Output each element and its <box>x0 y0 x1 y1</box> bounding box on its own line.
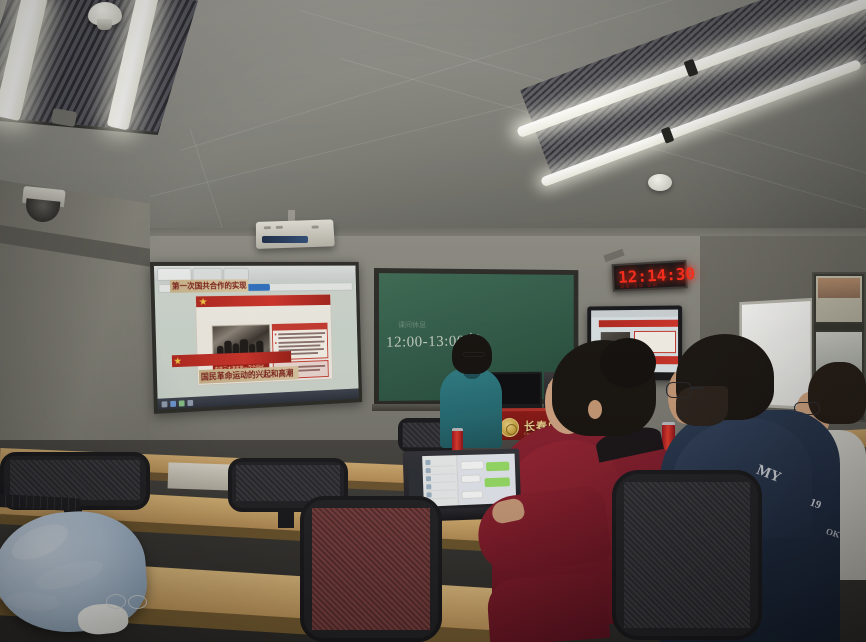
teacher-torso <box>440 368 502 448</box>
chair-front-right[interactable] <box>612 470 762 642</box>
building-outside <box>818 278 860 298</box>
chalkboard-faint-note: 课间休息 <box>398 320 426 330</box>
slide-body-heading <box>273 324 327 331</box>
glasses-bridge <box>690 387 704 389</box>
projector-lens <box>262 236 308 243</box>
student-navy-shirt-glasses-icon <box>666 382 692 398</box>
teacher-glasses-icon <box>463 352 485 357</box>
projected-browser: 中共三大决定第一次全国代表大会与合作共产党员以个人身份加入 第一次国共合作的实现… <box>154 266 359 410</box>
slide-title: 第一次国共合作的实现 <box>172 280 247 291</box>
soda-can-left[interactable] <box>452 430 463 452</box>
window-mullion <box>814 324 864 330</box>
tv-browser-chrome <box>591 310 678 318</box>
lens-right <box>128 595 147 609</box>
chair-front-center[interactable] <box>300 496 442 642</box>
university-seal-icon <box>500 418 519 437</box>
slide-top-band <box>196 295 330 308</box>
smoke-detector-icon <box>88 2 122 26</box>
camera-lens <box>24 198 60 223</box>
classroom-photo: 中共三大决定第一次全国代表大会与合作共产党员以个人身份加入 第一次国共合作的实现… <box>0 0 866 642</box>
lens-left <box>106 594 126 609</box>
woman-in-red-ear <box>588 400 602 419</box>
woman-in-red-hair-bun <box>600 338 656 388</box>
projection-screen: 中共三大决定第一次全国代表大会与合作共产党员以个人身份加入 第一次国共合作的实现… <box>150 262 362 414</box>
eyeglasses-icon <box>106 594 148 610</box>
smoke-detector-icon-2 <box>648 174 672 191</box>
woman-in-red-lower-arm <box>486 572 610 642</box>
student-white-shirt-hair <box>808 362 866 424</box>
dome-security-camera-icon <box>20 186 65 224</box>
tv-slide-top-band <box>599 320 678 327</box>
ceiling-projector <box>256 219 335 249</box>
window-pane-upper <box>816 276 862 322</box>
